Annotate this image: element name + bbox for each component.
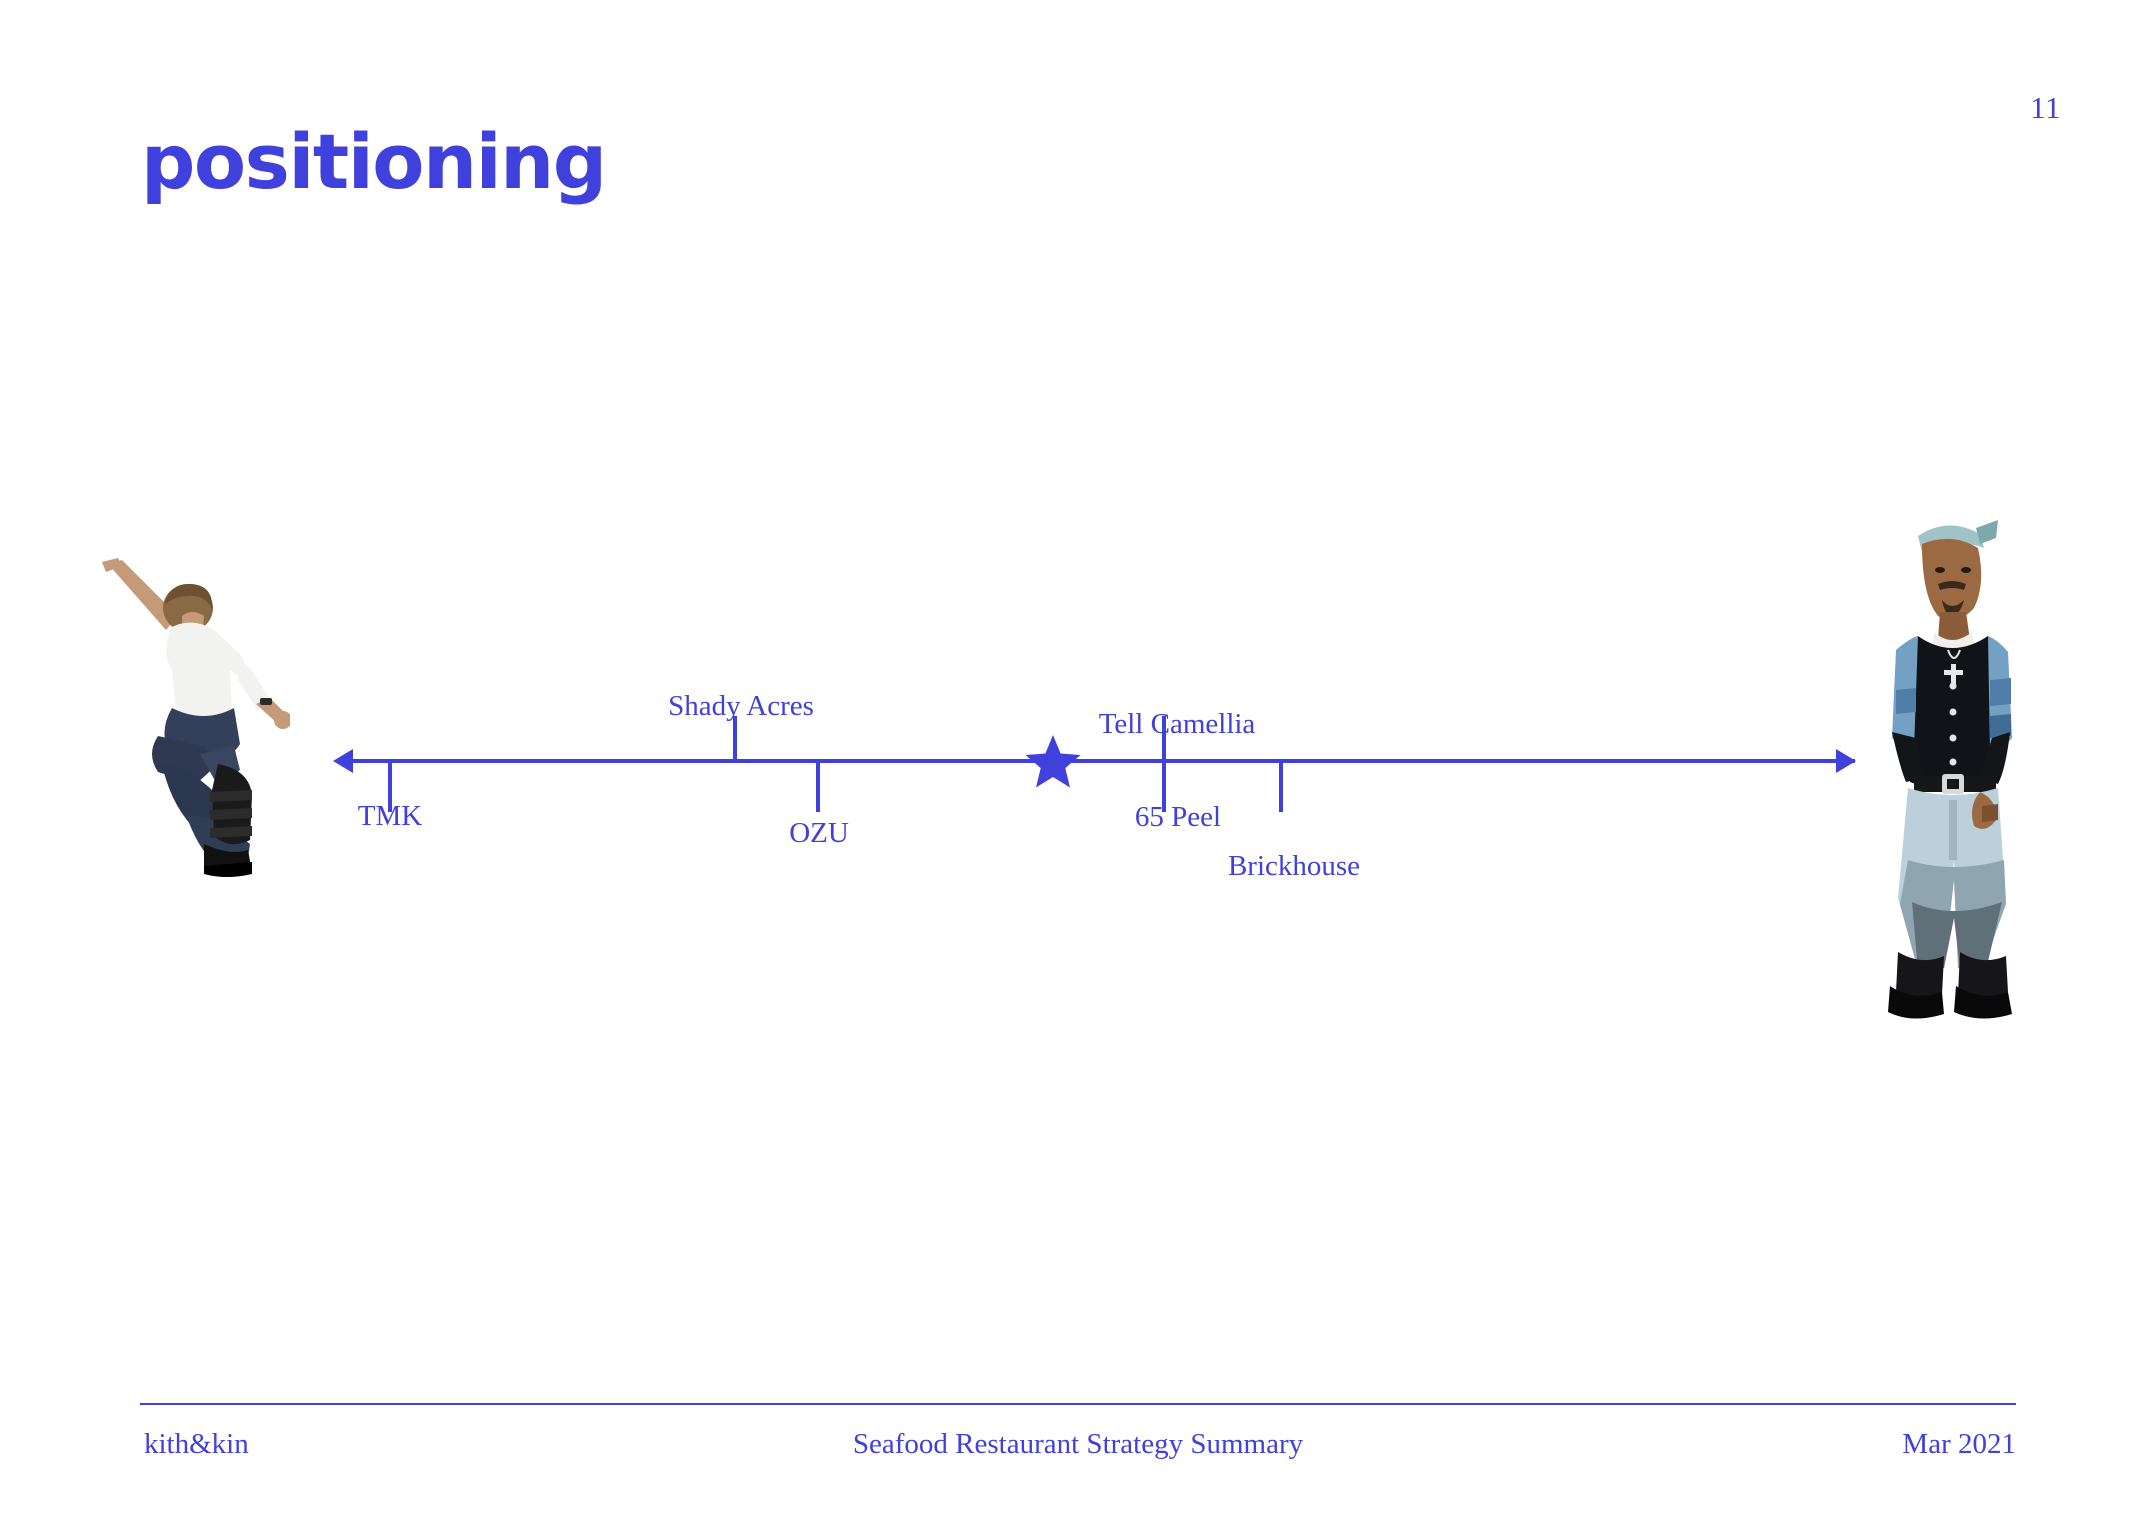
positioning-spectrum: TMK Shady Acres OZU Tell Camellia 65 Pee… (0, 0, 2156, 1524)
arrow-left-icon (333, 749, 353, 773)
page-number: 11 (2030, 90, 2061, 126)
spectrum-label-65-peel: 65 Peel (1135, 801, 1221, 834)
tick-ozu (816, 759, 820, 812)
dancing-man-cutout (100, 558, 290, 878)
slide: 11 positioning (0, 0, 2156, 1524)
arrow-right-icon (1836, 749, 1856, 773)
star-icon (1026, 735, 1081, 788)
spectrum-axis-line (343, 759, 1855, 763)
spectrum-label-shady-acres: Shady Acres (668, 690, 814, 723)
tick-brickhouse (1279, 759, 1283, 812)
standing-man-cutout (1856, 500, 2046, 1025)
page-title: positioning (141, 124, 606, 200)
star-marker (1024, 734, 1082, 790)
footer-brand: kith&kin (144, 1428, 249, 1461)
spectrum-label-ozu: OZU (789, 817, 849, 850)
footer-divider (140, 1403, 2016, 1405)
footer-subject: Seafood Restaurant Strategy Summary (853, 1428, 1303, 1461)
spectrum-label-tmk: TMK (358, 800, 422, 833)
tick-tmk (388, 759, 392, 812)
footer-date: Mar 2021 (1902, 1428, 2016, 1461)
spectrum-label-brickhouse: Brickhouse (1228, 850, 1360, 883)
tick-shady-acres (733, 716, 737, 761)
tick-tell-camellia-65-peel (1162, 716, 1166, 812)
spectrum-label-tell-camellia: Tell Camellia (1099, 708, 1256, 741)
